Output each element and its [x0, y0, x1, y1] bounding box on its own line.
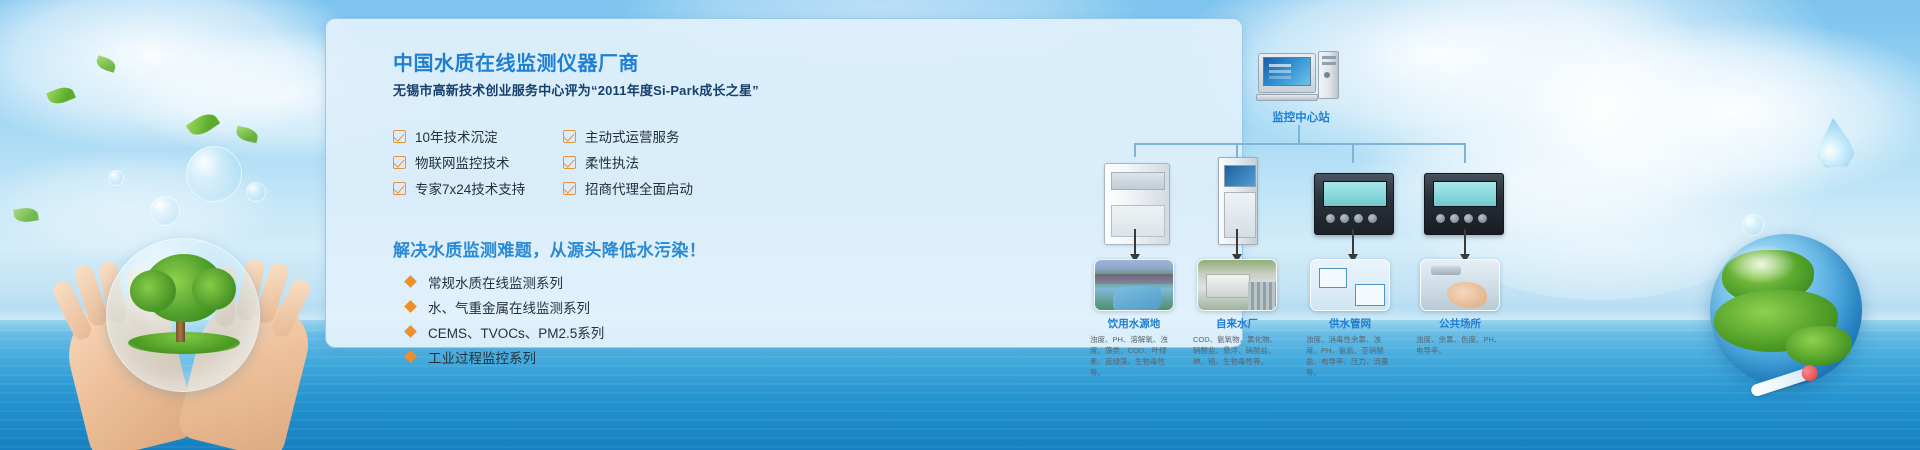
diamond-bullet-icon — [404, 325, 417, 338]
bubble-decoration — [108, 170, 124, 186]
keyboard-icon — [1256, 94, 1318, 101]
list-item: 工业过程监控系列 — [406, 344, 604, 369]
checkbox-checked-icon — [393, 156, 406, 169]
tree-canopy-icon — [144, 254, 224, 322]
scenario-description: 浊度、余氯、色度、PH、电导率。 — [1416, 335, 1504, 357]
cloud-decoration — [0, 0, 360, 150]
feature-label: 主动式运营服务 — [585, 126, 680, 146]
down-arrow-icon — [1352, 229, 1354, 255]
feature-row: 物联网监控技术 柔性执法 — [393, 149, 723, 175]
secondary-title: 解决水质监测难题，从源头降低水污染！ — [393, 236, 706, 261]
monitor-icon — [1258, 53, 1316, 93]
controller-device-icon — [1314, 173, 1394, 235]
monitor-screen — [1263, 57, 1311, 86]
scenario-thumbnail-water-network — [1310, 259, 1390, 311]
device-buttons — [1324, 211, 1386, 227]
hands-holding-tree-illustration — [72, 235, 302, 450]
monitoring-center-computer-icon — [1258, 53, 1340, 103]
scenario-description: COD、氨氧物、氯化物、硝酸盐、悬浮、硝酸盐、砷、铬、生物毒性等。 — [1193, 335, 1281, 368]
feature-item: 专家7x24技术支持 — [393, 178, 563, 198]
product-series-list: 常规水质在线监测系列 水、气重金属在线监测系列 CEMS、TVOCs、PM2.5… — [406, 269, 604, 369]
leaf-icon — [95, 55, 118, 73]
connector-line — [1298, 125, 1300, 143]
down-arrow-icon — [1236, 229, 1238, 255]
diamond-bullet-icon — [404, 350, 417, 363]
scenario-thumbnail-water-plant — [1197, 259, 1277, 311]
list-item-label: 常规水质在线监测系列 — [428, 272, 563, 292]
cabinet-analyzer-device-icon — [1104, 163, 1170, 245]
device-lcd-screen — [1433, 181, 1497, 207]
down-arrow-icon — [1464, 229, 1466, 255]
rack-analyzer-device-icon — [1218, 157, 1258, 245]
feature-label: 专家7x24技术支持 — [415, 178, 525, 198]
diamond-bullet-icon — [404, 300, 417, 313]
scenario-title: 饮用水源地 — [1094, 316, 1174, 331]
device-buttons — [1434, 211, 1496, 227]
controller-device-icon — [1424, 173, 1504, 235]
feature-row: 10年技术沉淀 主动式运营服务 — [393, 123, 723, 149]
feature-row: 专家7x24技术支持 招商代理全面启动 — [393, 175, 723, 201]
diamond-bullet-icon — [404, 275, 417, 288]
bubble-decoration — [150, 196, 180, 226]
scenario-title: 自来水厂 — [1197, 316, 1277, 331]
checkbox-checked-icon — [563, 156, 576, 169]
feature-item: 主动式运营服务 — [563, 126, 680, 146]
scenario-card[interactable]: 饮用水源地 浊度、PH、溶解氧、浊度、藻类、COD、叶绿素、蓝绿藻、生物毒性等。 — [1094, 259, 1174, 379]
feature-label: 10年技术沉淀 — [415, 126, 498, 146]
main-content-panel: 中国水质在线监测仪器厂商 无锡市高新技术创业服务中心评为“2011年度Si-Pa… — [325, 18, 1243, 348]
down-arrow-icon — [1134, 229, 1136, 255]
list-item: 水、气重金属在线监测系列 — [406, 294, 604, 319]
leaf-icon — [186, 109, 220, 140]
checkbox-checked-icon — [563, 182, 576, 195]
bubble-decoration — [1742, 214, 1764, 236]
connector-line — [1134, 143, 1464, 145]
device-lcd-screen — [1323, 181, 1387, 207]
page-subtitle: 无锡市高新技术创业服务中心评为“2011年度Si-Park成长之星” — [393, 80, 759, 99]
water-droplet-icon — [1814, 117, 1855, 170]
bubble-decoration — [186, 146, 242, 202]
scenario-description: 浊度、消毒性余氯、浊度、PH、氨氮、亚硝酸盐、电导率、压力、流量等。 — [1306, 335, 1394, 379]
leaf-icon — [13, 206, 39, 223]
list-item-label: 水、气重金属在线监测系列 — [428, 297, 590, 317]
page-title: 中国水质在线监测仪器厂商 — [393, 47, 639, 76]
list-item: CEMS、TVOCs、PM2.5系列 — [406, 319, 604, 344]
list-item-label: 工业过程监控系列 — [428, 347, 536, 367]
pc-tower-icon — [1318, 51, 1339, 99]
feature-item: 物联网监控技术 — [393, 152, 563, 172]
feature-label: 招商代理全面启动 — [585, 178, 693, 198]
scenario-description: 浊度、PH、溶解氧、浊度、藻类、COD、叶绿素、蓝绿藻、生物毒性等。 — [1090, 335, 1178, 379]
list-item: 常规水质在线监测系列 — [406, 269, 604, 294]
checkbox-checked-icon — [563, 130, 576, 143]
feature-item: 柔性执法 — [563, 152, 639, 172]
scenario-card[interactable]: 供水管网 浊度、消毒性余氯、浊度、PH、氨氮、亚硝酸盐、电导率、压力、流量等。 — [1310, 259, 1390, 379]
feature-label: 柔性执法 — [585, 152, 639, 172]
earth-globe-icon — [1710, 234, 1862, 386]
leaf-icon — [46, 84, 76, 108]
monitoring-center-label: 监控中心站 — [1216, 109, 1386, 125]
leaf-icon — [235, 126, 259, 143]
scenario-title: 供水管网 — [1310, 316, 1390, 331]
cloud-decoration — [1520, 20, 1920, 200]
feature-label: 物联网监控技术 — [415, 152, 510, 172]
scenario-thumbnail-drinking-water-source — [1094, 259, 1174, 311]
feature-item: 10年技术沉淀 — [393, 126, 563, 146]
list-item-label: CEMS、TVOCs、PM2.5系列 — [428, 322, 604, 342]
scenario-card[interactable]: 自来水厂 COD、氨氧物、氯化物、硝酸盐、悬浮、硝酸盐、砷、铬、生物毒性等。 — [1197, 259, 1277, 368]
scenario-title: 公共场所 — [1420, 316, 1500, 331]
device-row — [1066, 153, 1546, 245]
checkbox-checked-icon — [393, 182, 406, 195]
bubble-decoration — [246, 182, 266, 202]
scenario-thumbnail-public-place — [1420, 259, 1500, 311]
checkbox-checked-icon — [393, 130, 406, 143]
feature-checklist: 10年技术沉淀 主动式运营服务 物联网监控技术 柔性执法 专家7x24技术支持 — [393, 123, 723, 201]
feature-item: 招商代理全面启动 — [563, 178, 693, 198]
scenario-card[interactable]: 公共场所 浊度、余氯、色度、PH、电导率。 — [1420, 259, 1500, 357]
monitoring-system-diagram: 监控中心站 饮用水源地 浊度、P — [1066, 41, 1546, 351]
